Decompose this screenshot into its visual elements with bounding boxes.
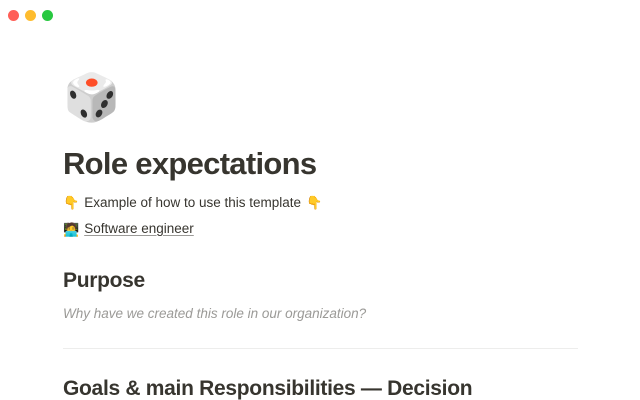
document-body: 🎲 Role expectations 👇 Example of how to … xyxy=(0,30,640,400)
role-link-software-engineer[interactable]: Software engineer xyxy=(84,219,194,239)
page-title[interactable]: Role expectations xyxy=(63,146,578,182)
close-button-icon[interactable] xyxy=(8,10,19,21)
example-note-line[interactable]: 👇 Example of how to use this template 👇 xyxy=(63,193,578,213)
section-divider xyxy=(63,348,578,349)
pointing-down-hand-icon-right: 👇 xyxy=(306,196,322,209)
window-titlebar xyxy=(0,0,640,30)
example-note-text: Example of how to use this template xyxy=(84,193,301,213)
minimize-button-icon[interactable] xyxy=(25,10,36,21)
app-window: 🎲 Role expectations 👇 Example of how to … xyxy=(0,0,640,400)
section-hint-purpose[interactable]: Why have we created this role in our org… xyxy=(63,304,578,324)
pointing-down-hand-icon-left: 👇 xyxy=(63,196,79,209)
maximize-button-icon[interactable] xyxy=(42,10,53,21)
technologist-emoji-icon: 🧑‍💻 xyxy=(63,223,79,236)
role-link-line[interactable]: 🧑‍💻 Software engineer xyxy=(63,219,578,239)
section-heading-next-clipped[interactable]: Goals & main Responsibilities — Decision xyxy=(63,377,578,400)
window-traffic-lights xyxy=(0,10,53,21)
section-heading-purpose[interactable]: Purpose xyxy=(63,269,578,293)
game-die-emoji-icon[interactable]: 🎲 xyxy=(63,70,117,124)
